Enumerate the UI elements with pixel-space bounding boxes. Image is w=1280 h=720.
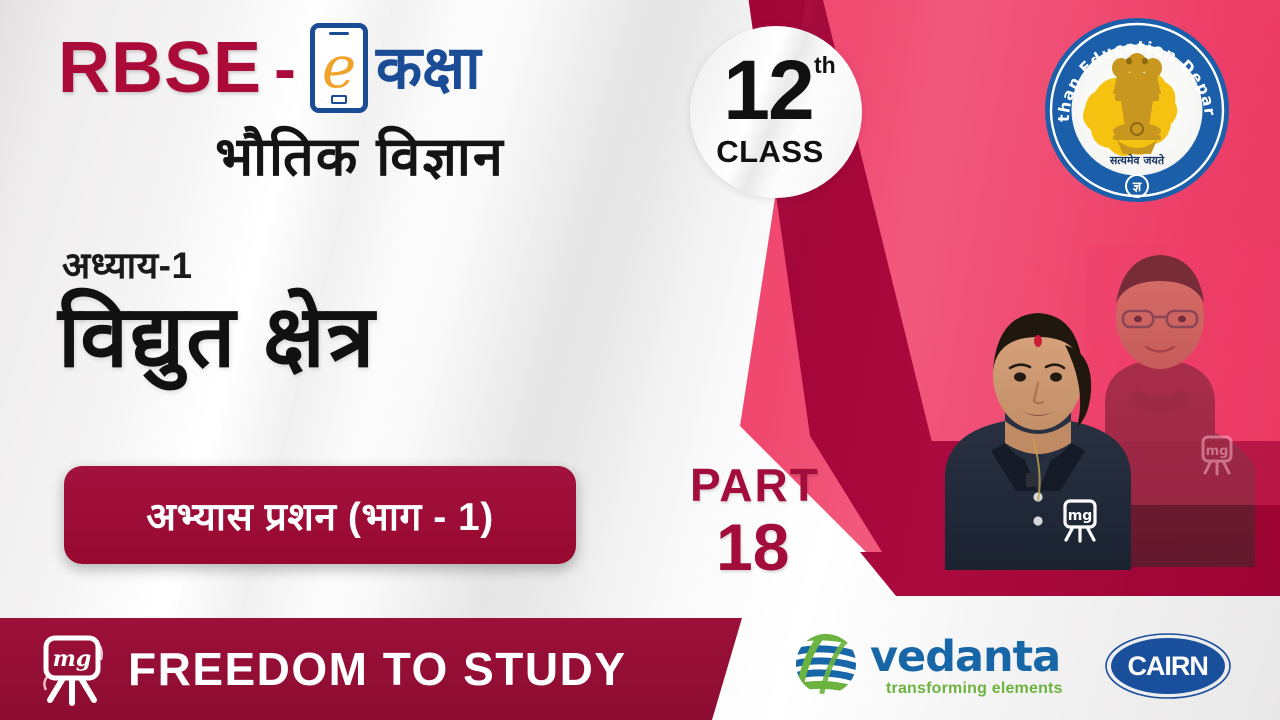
- instructors-photo: mg: [915, 225, 1280, 570]
- seal-motto: सत्यमेव जयते: [1109, 153, 1165, 167]
- sponsor-logos: vedanta transforming elements CAIRN: [790, 620, 1270, 712]
- part-number: 18: [716, 514, 820, 580]
- smartphone-icon: e: [310, 23, 368, 113]
- mg-logo-text: mg: [53, 646, 92, 672]
- mg-blackboard-icon: mg: [32, 632, 112, 706]
- vedanta-globe-icon: [790, 628, 862, 705]
- thumbnail-canvas: mg: [0, 0, 1280, 720]
- class-word-label: CLASS: [702, 136, 838, 167]
- brand-header: RBSE - e कक्षा: [58, 22, 618, 114]
- class-number: 12: [704, 48, 832, 132]
- vedanta-name: vedanta: [870, 636, 1063, 679]
- brand-name: RBSE: [58, 32, 262, 104]
- cairn-name: CAIRN: [1103, 631, 1233, 701]
- brand-separator: -: [274, 35, 296, 101]
- rajasthan-education-department-seal: Rajasthan Education Department सत्यमेव ज…: [1043, 16, 1231, 204]
- footer-tagline: FREEDOM TO STUDY: [128, 642, 627, 696]
- topic-badge-label: अभ्यास प्रशन (भाग - 1): [146, 489, 493, 542]
- svg-text:ज्ञ: ज्ञ: [1132, 180, 1142, 195]
- brand-kaksha-label: कक्षा: [376, 38, 481, 98]
- part-label: PART: [690, 462, 820, 508]
- class-number-suffix: th: [814, 54, 836, 77]
- part-block: PART 18: [690, 462, 820, 580]
- vedanta-tagline: transforming elements: [886, 681, 1063, 697]
- footer-bar: mg FREEDOM TO STUDY: [0, 618, 775, 720]
- vedanta-logo: vedanta transforming elements: [790, 628, 1063, 705]
- topic-badge: अभ्यास प्रशन (भाग - 1): [64, 466, 576, 564]
- chapter-title: विद्युत क्षेत्र: [58, 292, 376, 382]
- e-letter: e: [322, 38, 356, 96]
- subject-title: भौतिक विज्ञान: [130, 130, 590, 184]
- svg-text:mg: mg: [1068, 508, 1093, 524]
- class-badge: 12 th CLASS: [690, 26, 862, 198]
- chapter-label: अध्याय-1: [62, 238, 193, 289]
- cairn-logo: CAIRN: [1103, 631, 1233, 701]
